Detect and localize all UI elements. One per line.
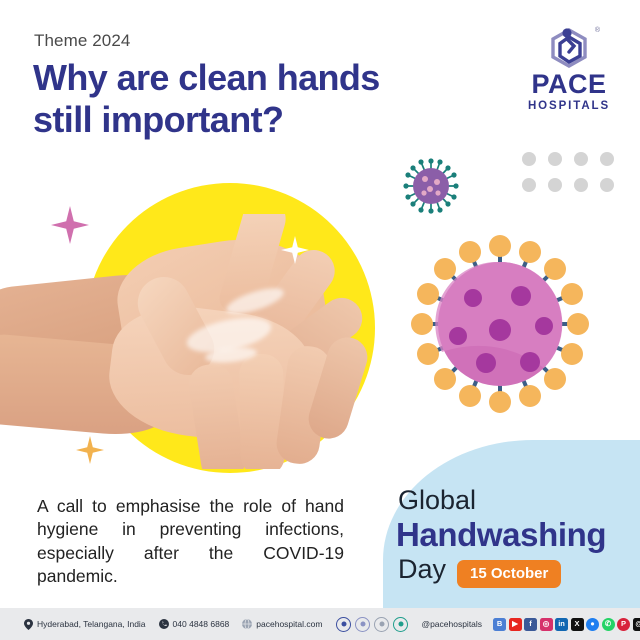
accreditation-badges <box>336 617 408 632</box>
linkedin-icon[interactable]: in <box>555 618 568 631</box>
social-icon-row: B▶f◎inX●✆P@◔♫ <box>493 618 640 631</box>
campaign-line-2: Handwashing <box>396 518 606 551</box>
headline-line-2: still important? <box>33 99 453 141</box>
footer-phone-text: 040 4848 6868 <box>173 619 230 629</box>
x-twitter-icon[interactable]: X <box>571 618 584 631</box>
pace-hexagon-icon: ® <box>547 26 591 68</box>
logo-wordmark: PACE <box>516 71 622 98</box>
poster-canvas: Theme 2024 Why are clean hands still imp… <box>0 0 640 640</box>
footer-contact-group: Hyderabad, Telangana, India 040 4848 686… <box>0 619 322 630</box>
accreditation-badge-2-icon <box>355 617 370 632</box>
footer-social-group: @pacehospitals B▶f◎inX●✆P@◔♫ <box>322 617 640 632</box>
footer-bar: Hyderabad, Telangana, India 040 4848 686… <box>0 608 640 640</box>
page-title: Why are clean hands still important? <box>33 57 453 142</box>
theme-label: Theme 2024 <box>34 31 130 51</box>
accreditation-badge-3-icon <box>374 617 389 632</box>
dot-grid-decoration <box>522 152 626 204</box>
logo-subtitle: HOSPITALS <box>516 100 622 112</box>
footer-phone[interactable]: 040 4848 6868 <box>159 619 230 629</box>
large-virus-icon <box>404 228 596 425</box>
pinterest-icon[interactable]: P <box>617 618 630 631</box>
footer-location-text: Hyderabad, Telangana, India <box>37 619 146 629</box>
accreditation-badge-1-icon <box>336 617 351 632</box>
footer-location: Hyderabad, Telangana, India <box>24 619 146 630</box>
facebook-icon[interactable]: f <box>524 618 537 631</box>
accreditation-badge-4-icon <box>393 617 408 632</box>
globe-icon <box>242 619 252 629</box>
social-handle: @pacehospitals <box>421 619 482 629</box>
campaign-line-3: Day <box>398 556 446 583</box>
phone-icon <box>159 619 169 629</box>
headline-line-1: Why are clean hands <box>33 57 380 98</box>
campaign-line-1: Global <box>398 487 476 514</box>
registered-mark: ® <box>595 27 600 34</box>
youtube-icon[interactable]: ▶ <box>509 618 522 631</box>
small-virus-icon <box>400 155 462 222</box>
date-badge: 15 October <box>457 560 561 588</box>
instagram-icon[interactable]: ◎ <box>540 618 553 631</box>
whatsapp-icon[interactable]: ✆ <box>602 618 615 631</box>
footer-website[interactable]: pacehospital.com <box>242 619 322 629</box>
messenger-icon[interactable]: ● <box>586 618 599 631</box>
location-pin-icon <box>24 619 33 630</box>
threads-icon[interactable]: @ <box>633 618 640 631</box>
footer-website-text: pacehospital.com <box>256 619 322 629</box>
brand-logo: ® PACE HOSPITALS <box>516 26 622 112</box>
handwashing-photo <box>0 214 380 469</box>
body-copy: A call to emphasise the role of hand hyg… <box>37 495 344 588</box>
blogger-icon[interactable]: B <box>493 618 506 631</box>
